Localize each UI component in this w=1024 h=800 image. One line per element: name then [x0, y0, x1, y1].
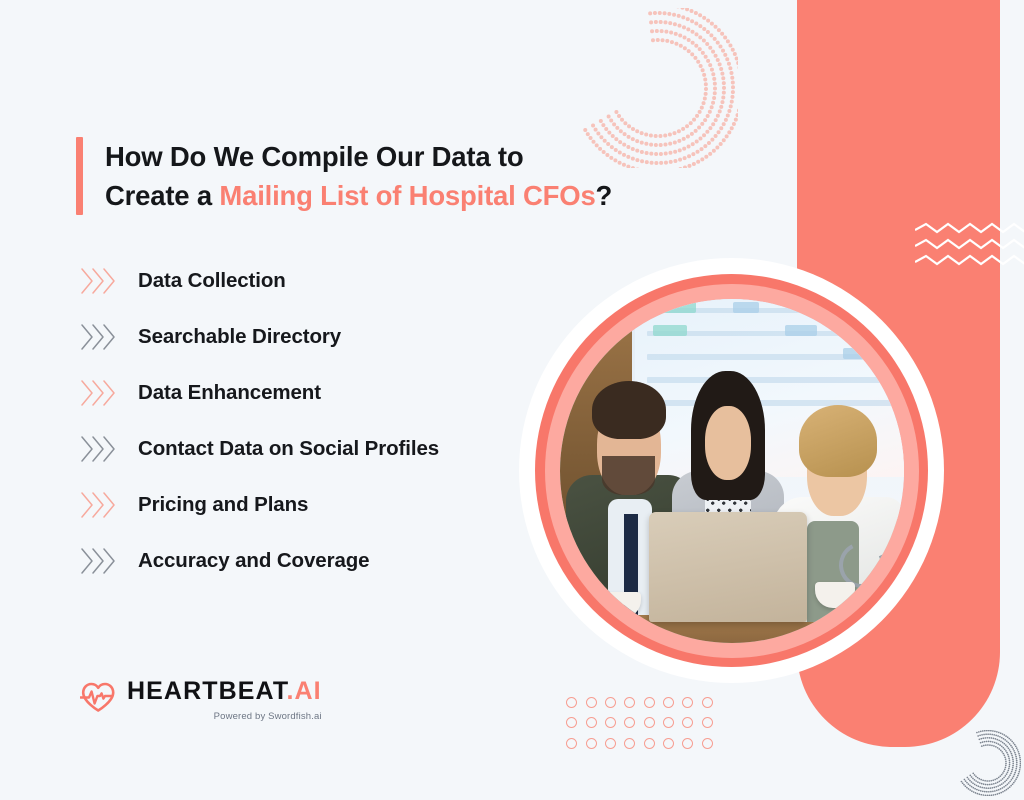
- feature-label: Contact Data on Social Profiles: [138, 437, 439, 461]
- triple-chevron-right-icon: [80, 490, 120, 520]
- dot-ring: [663, 738, 674, 749]
- triple-chevron-right-icon: [76, 490, 138, 520]
- triple-chevron-right-icon: [76, 546, 138, 576]
- zigzag-waves-icon: [915, 222, 1024, 270]
- feature-item[interactable]: Accuracy and Coverage: [76, 533, 616, 589]
- triple-chevron-right-icon: [80, 434, 120, 464]
- feature-label: Searchable Directory: [138, 325, 341, 349]
- dot-ring: [682, 697, 693, 708]
- triple-chevron-right-icon: [76, 266, 138, 296]
- heartbeat-heart-icon: [80, 681, 116, 713]
- dot-ring: [663, 717, 674, 728]
- feature-label: Data Enhancement: [138, 381, 321, 405]
- page-title-line2-prefix: Create a: [105, 180, 219, 211]
- dot-ring: [702, 717, 713, 728]
- infographic-canvas: How Do We Compile Our Data to Create a M…: [0, 0, 1024, 800]
- logo-tagline: Powered by Swordfish.ai: [127, 711, 322, 722]
- feature-item[interactable]: Pricing and Plans: [76, 477, 616, 533]
- page-title-line2-suffix: ?: [596, 180, 613, 211]
- feature-item[interactable]: Data Enhancement: [76, 365, 616, 421]
- dot-ring: [663, 697, 674, 708]
- dot-ring: [702, 697, 713, 708]
- feature-list: Data CollectionSearchable DirectoryData …: [76, 253, 616, 589]
- dot-ring: [702, 738, 713, 749]
- triple-chevron-right-icon: [76, 322, 138, 352]
- page-title-block: How Do We Compile Our Data to Create a M…: [76, 137, 612, 215]
- feature-item[interactable]: Data Collection: [76, 253, 616, 309]
- dot-ring: [682, 717, 693, 728]
- dot-ring: [644, 738, 655, 749]
- triple-chevron-right-icon: [76, 378, 138, 408]
- feature-item[interactable]: Contact Data on Social Profiles: [76, 421, 616, 477]
- dotted-crescent-bottom-icon: [955, 730, 1021, 796]
- triple-chevron-right-icon: [80, 378, 120, 408]
- dot-ring: [644, 717, 655, 728]
- logo-suffix: .AI: [286, 677, 321, 705]
- dot-ring: [682, 738, 693, 749]
- laptop: [649, 512, 807, 622]
- triple-chevron-right-icon: [80, 546, 120, 576]
- heartbeat-logo[interactable]: HEARTBEAT.AI Powered by Swordfish.ai: [80, 679, 322, 722]
- triple-chevron-right-icon: [80, 266, 120, 296]
- content-column: How Do We Compile Our Data to Create a M…: [76, 0, 636, 800]
- title-accent-bar: [76, 137, 83, 215]
- triple-chevron-right-icon: [76, 434, 138, 464]
- page-title-accent: Mailing List of Hospital CFOs: [219, 180, 595, 211]
- triple-chevron-right-icon: [80, 322, 120, 352]
- feature-label: Accuracy and Coverage: [138, 549, 369, 573]
- feature-label: Pricing and Plans: [138, 493, 308, 517]
- page-title-line1: How Do We Compile Our Data to: [105, 141, 523, 172]
- feature-item[interactable]: Searchable Directory: [76, 309, 616, 365]
- page-title: How Do We Compile Our Data to Create a M…: [105, 137, 612, 215]
- logo-name: HEARTBEAT: [127, 677, 286, 705]
- feature-label: Data Collection: [138, 269, 286, 293]
- dot-ring: [644, 697, 655, 708]
